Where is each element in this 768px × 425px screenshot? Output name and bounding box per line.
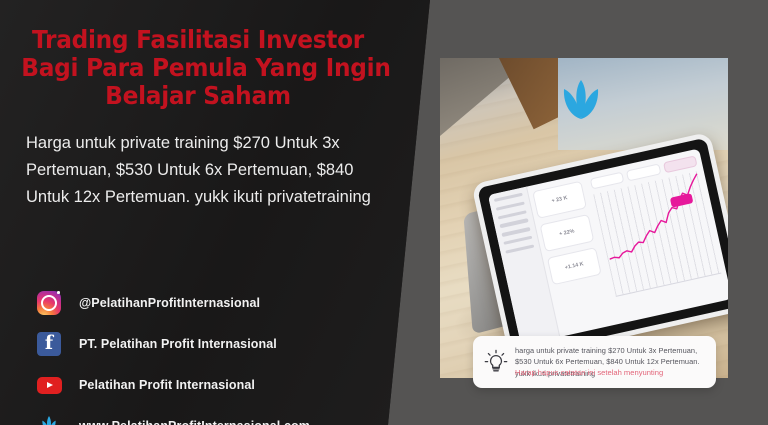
social-links: @PelatihanProfitInternasional f PT. Pela… (36, 285, 310, 425)
stat-card: + 22% (540, 214, 595, 252)
dashboard-tab-active (663, 155, 698, 173)
dashboard-tab (626, 163, 661, 181)
social-label-youtube: Pelatihan Profit Internasional (79, 378, 255, 392)
stat-card: +1.14 K (547, 247, 602, 285)
social-row-facebook[interactable]: f PT. Pelatihan Profit Internasional (36, 326, 310, 362)
product-photo: + 23 K + 22% +1.14 K (440, 58, 728, 378)
facebook-icon: f (36, 331, 62, 357)
youtube-icon (36, 372, 62, 398)
promo-poster: Trading Fasilitasi Investor Bagi Para Pe… (0, 0, 768, 425)
social-row-website[interactable]: www.PelatihanProfitInternasional.com (36, 408, 310, 425)
body-copy: Harga untuk private training $270 Untuk … (26, 130, 371, 211)
stat-card: + 23 K (532, 181, 587, 219)
dashboard-tab (590, 172, 625, 190)
social-row-instagram[interactable]: @PelatihanProfitInternasional (36, 285, 310, 321)
headline-line-3: Belajar Saham (21, 82, 374, 110)
headline-line-1: Trading Fasilitasi Investor (21, 26, 374, 54)
editor-note-warning: Harap hapus catatan ini setelah menyunti… (515, 368, 663, 378)
editor-note-body: harga untuk private training $270 Untuk … (515, 345, 706, 380)
lightbulb-icon (481, 347, 511, 377)
social-label-facebook: PT. Pelatihan Profit Internasional (79, 337, 277, 351)
social-row-youtube[interactable]: Pelatihan Profit Internasional (36, 367, 310, 403)
social-label-instagram: @PelatihanProfitInternasional (79, 296, 260, 310)
headline-line-2: Bagi Para Pemula Yang Ingin (21, 54, 374, 82)
instagram-icon (36, 290, 62, 316)
social-label-website: www.PelatihanProfitInternasional.com (79, 419, 310, 425)
tablet-screen: + 23 K + 22% +1.14 K (488, 148, 728, 345)
lotus-logo-icon (36, 413, 62, 425)
dashboard-line-chart (593, 171, 721, 297)
lotus-logo-icon (552, 76, 610, 132)
editor-note-card: harga untuk private training $270 Untuk … (473, 336, 716, 388)
page-title: Trading Fasilitasi Investor Bagi Para Pe… (21, 26, 374, 110)
